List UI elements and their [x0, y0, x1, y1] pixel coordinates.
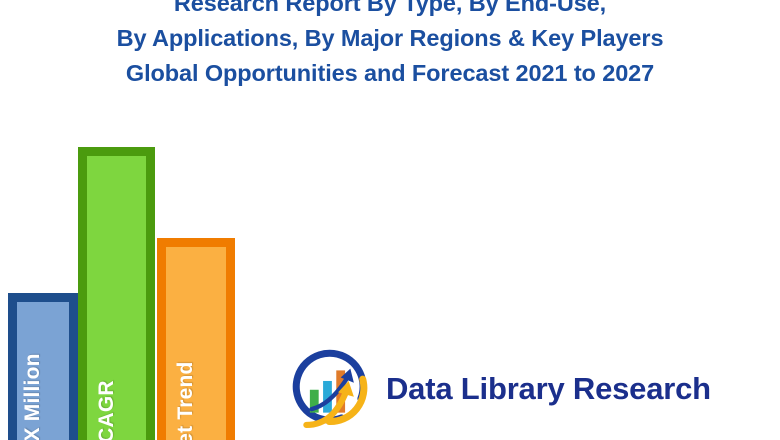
bar-percent-cagr: % CAGR [78, 147, 155, 440]
bar-usd-xx-million-label: USD XX Million [22, 353, 43, 440]
bar-chart: USD XX Million % CAGR Market Trend [0, 0, 300, 440]
bar-market-trend: Market Trend [157, 238, 235, 440]
bar-market-trend-label: Market Trend [175, 361, 196, 440]
report-cover: Research Report By Type, By End-Use, By … [0, 0, 780, 440]
brand-wordmark: Data Library Research [386, 373, 711, 404]
data-library-research-logo-icon [287, 344, 375, 432]
bar-usd-xx-million: USD XX Million [8, 293, 78, 440]
bar-percent-cagr-label: % CAGR [96, 380, 117, 440]
brand-logo: Data Library Research [287, 344, 711, 432]
